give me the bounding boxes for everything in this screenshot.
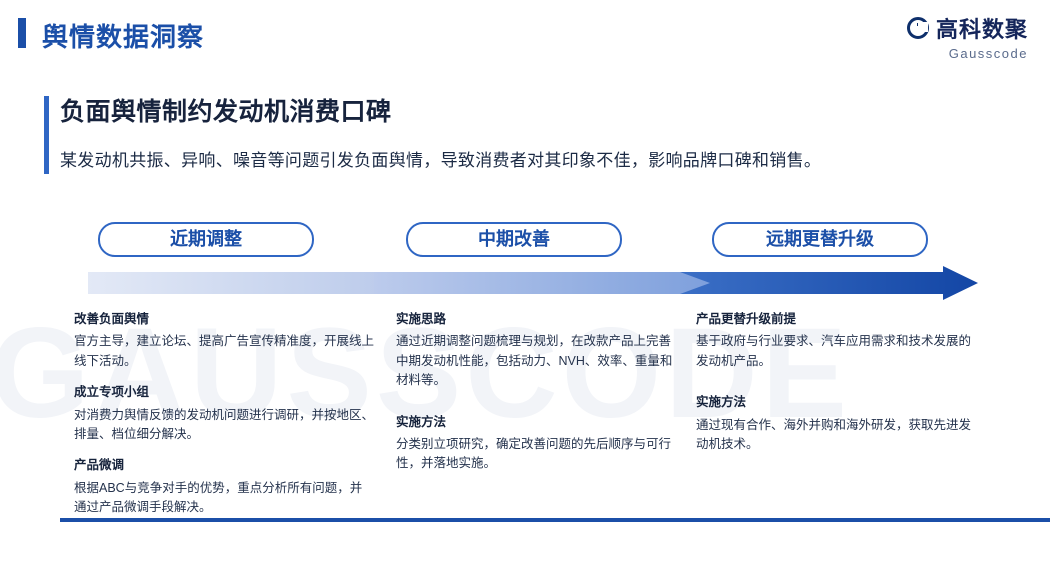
logo-chinese-name: 高科数聚 [936,12,1028,44]
text-block: 实施思路 通过近期调整问题梳理与规划，在改款产品上完善中期发动机性能，包括动力、… [396,310,676,391]
text-block: 改善负面舆情 官方主导，建立论坛、提高广告宣传精准度，开展线上线下活动。 [74,310,374,371]
logo-mark-icon [907,17,929,39]
block-body: 基于政府与行业要求、汽车应用需求和技术发展的发动机产品。 [696,332,972,371]
header-accent-bar [18,18,26,48]
page-title: 舆情数据洞察 [42,17,204,54]
block-title: 实施思路 [396,310,676,329]
lead-heading: 负面舆情制约发动机消费口碑 [60,92,821,128]
brand-logo: 高科数聚 Gausscode [907,12,1028,61]
block-body: 根据ABC与竞争对手的优势，重点分析所有问题，并通过产品微调手段解决。 [74,479,374,518]
block-title: 产品更替升级前提 [696,310,972,329]
block-body: 分类别立项研究，确定改善问题的先后顺序与可行性，并落地实施。 [396,435,676,474]
stage-pill-mid-term: 中期改善 [406,222,622,257]
text-block: 产品微调 根据ABC与竞争对手的优势，重点分析所有问题，并通过产品微调手段解决。 [74,456,374,517]
bottom-rule [60,518,1050,522]
block-title: 产品微调 [74,456,374,475]
stage-pill-long-term: 远期更替升级 [712,222,928,257]
logo-english-name: Gausscode [907,46,1028,61]
block-title: 实施方法 [696,393,972,412]
block-title: 实施方法 [396,413,676,432]
text-block: 产品更替升级前提 基于政府与行业要求、汽车应用需求和技术发展的发动机产品。 [696,310,972,371]
block-body: 通过近期调整问题梳理与规划，在改款产品上完善中期发动机性能，包括动力、NVH、效… [396,332,676,390]
text-block: 实施方法 分类别立项研究，确定改善问题的先后顺序与可行性，并落地实施。 [396,413,676,474]
block-title: 成立专项小组 [74,383,374,402]
lead-paragraph: 某发动机共振、异响、噪音等问题引发负面舆情，导致消费者对其印象不佳，影响品牌口碑… [60,146,821,171]
block-body: 通过现有合作、海外并购和海外研发，获取先进发动机技术。 [696,416,972,455]
text-block: 实施方法 通过现有合作、海外并购和海外研发，获取先进发动机技术。 [696,393,972,454]
column-mid-term: 实施思路 通过近期调整问题梳理与规划，在改款产品上完善中期发动机性能，包括动力、… [396,310,676,486]
column-near-term: 改善负面舆情 官方主导，建立论坛、提高广告宣传精准度，开展线上线下活动。 成立专… [74,310,374,529]
timeline-arrow [88,266,978,300]
block-body: 官方主导，建立论坛、提高广告宣传精准度，开展线上线下活动。 [74,332,374,371]
column-long-term: 产品更替升级前提 基于政府与行业要求、汽车应用需求和技术发展的发动机产品。 实施… [696,310,972,466]
lead-accent-bar [44,96,49,174]
text-block: 成立专项小组 对消费力舆情反馈的发动机问题进行调研，并按地区、排量、档位细分解决… [74,383,374,444]
block-title: 改善负面舆情 [74,310,374,329]
page-header: 舆情数据洞察 高科数聚 Gausscode [0,0,1050,66]
stage-pill-near-term: 近期调整 [98,222,314,257]
block-body: 对消费力舆情反馈的发动机问题进行调研，并按地区、排量、档位细分解决。 [74,406,374,445]
lead-block: 负面舆情制约发动机消费口碑 某发动机共振、异响、噪音等问题引发负面舆情，导致消费… [60,92,821,171]
